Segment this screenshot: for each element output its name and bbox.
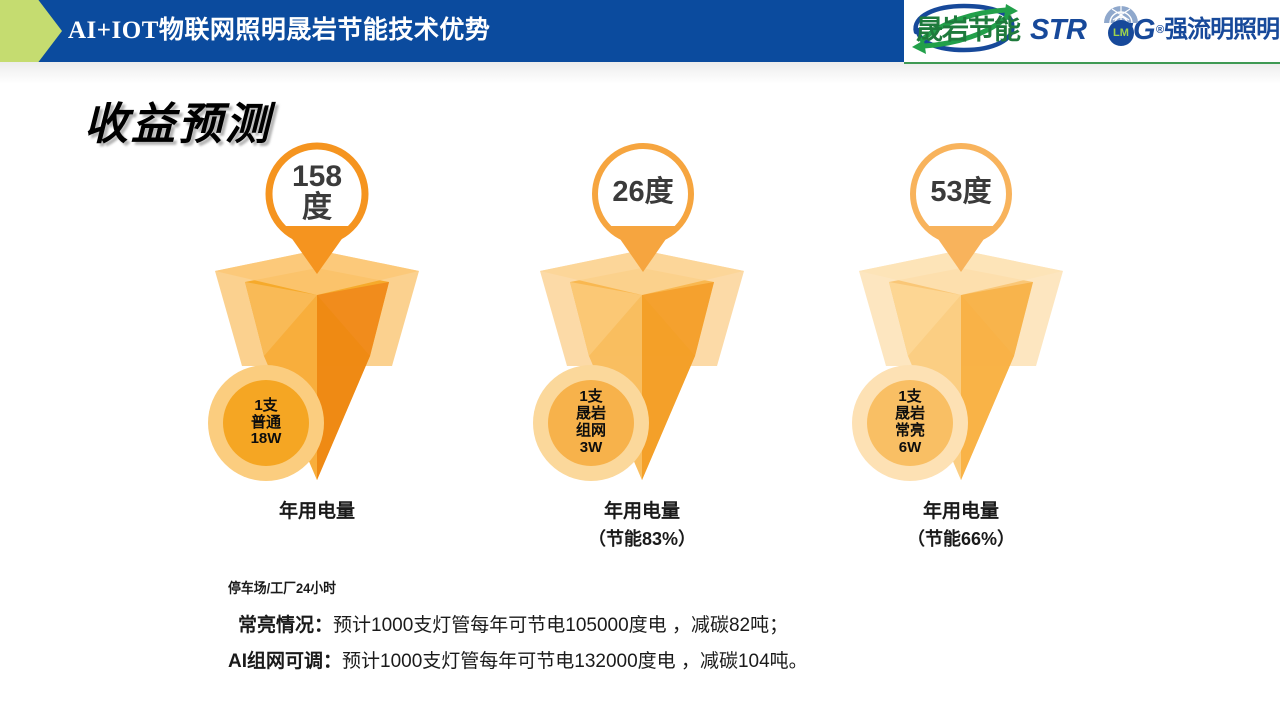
logo-company-name: 晟岩节能 [916, 17, 1020, 44]
lamp-badge-core: 1支 晟岩 组网 3W [548, 380, 634, 466]
caption-sub: （节能66%） [831, 526, 1091, 552]
pin-value-always-on: 53度 [903, 140, 1019, 244]
note-text: 预计1000支灯管每年可节电132000度电 ，减碳104吨。 [342, 651, 808, 672]
pin-value-standard: 158 度 [259, 140, 375, 244]
note-line-mesh: AI组网可调：预计1000支灯管每年可节电132000度电 ，减碳104吨。 [228, 644, 1088, 680]
lamp-badge-line: 1支 [898, 389, 921, 406]
value-pin-mesh: 26度 [585, 140, 701, 278]
logo-brand-strong: STR LM NG ® [1030, 16, 1164, 45]
note-label: 常亮情况： [238, 615, 333, 636]
caption-sub: （节能83%） [512, 526, 772, 552]
pin-value-unit: 度 [302, 192, 332, 223]
header-shadow-band [0, 62, 1280, 84]
pin-value-number: 26度 [612, 177, 673, 207]
lamp-badge-always-on: 1支 晟岩 常亮 6W [852, 365, 968, 481]
lamp-badge-core: 1支 普通 18W [223, 380, 309, 466]
funnel-group-standard: 158 度 1支 普通 18W 年用电量 [187, 140, 447, 490]
lamp-badge-line: 3W [580, 440, 603, 457]
lamp-badge-line: 普通 [251, 415, 281, 432]
lamp-badge-line: 1支 [579, 389, 602, 406]
value-pin-standard: 158 度 [259, 140, 375, 278]
note-scenario: 停车场/工厂24小时 [228, 578, 1019, 599]
funnel-caption-mesh: 年用电量 （节能83%） [512, 498, 772, 552]
pin-value-mesh: 26度 [585, 140, 701, 244]
page-title: AI+IOT物联网照明晟岩节能技术优势 [68, 12, 490, 50]
logo-tagline: 强流明照明 [1164, 18, 1279, 42]
lamp-badge-line: 18W [251, 431, 282, 448]
funnel-group-always-on: 53度 1支 晟岩 常亮 6W 年用电量 （节能66%） [831, 140, 1091, 490]
funnel-mesh-graphic: 26度 1支 晟岩 组网 3W [512, 140, 772, 490]
pin-value-number: 53度 [930, 177, 991, 207]
funnel-always-on-graphic: 53度 1支 晟岩 常亮 6W [831, 140, 1091, 490]
caption-main: 年用电量 [604, 501, 680, 522]
lamp-badge-line: 组网 [576, 423, 606, 440]
brand-logo-panel: 晟岩节能 STR LM NG ® 强流明照明 [904, 0, 1280, 64]
registered-trademark-icon: ® [1156, 24, 1164, 36]
lamp-badge-line: 常亮 [895, 423, 925, 440]
lamp-badge-standard: 1支 普通 18W [208, 365, 324, 481]
lamp-badge-line: 晟岩 [895, 406, 925, 423]
lamp-badge-line: 晟岩 [576, 406, 606, 423]
lamp-badge-core: 1支 晟岩 常亮 6W [867, 380, 953, 466]
notes-block: 停车场/工厂24小时 常亮情况：预计1000支灯管每年可节电105000度电 ，… [228, 578, 1088, 680]
page-header: AI+IOT物联网照明晟岩节能技术优势 晟岩节能 [0, 0, 1280, 62]
funnel-caption-standard: 年用电量 [187, 498, 447, 526]
note-line-always-on: 常亮情况：预计1000支灯管每年可节电105000度电 ，减碳82吨； [228, 608, 1088, 644]
funnel-group-mesh: 26度 1支 晟岩 组网 3W 年用电量 （节能83%） [512, 140, 772, 490]
note-label: AI组网可调： [228, 651, 342, 672]
lamp-badge-line: 6W [899, 440, 922, 457]
funnel-standard-graphic: 158 度 1支 普通 18W [187, 140, 447, 490]
lamp-badge-line: 1支 [254, 398, 277, 415]
value-pin-always-on: 53度 [903, 140, 1019, 278]
logo-lm-badge: LM [1108, 20, 1134, 46]
funnel-caption-always-on: 年用电量 （节能66%） [831, 498, 1091, 552]
lamp-badge-mesh: 1支 晟岩 组网 3W [533, 365, 649, 481]
note-text: 预计1000支灯管每年可节电105000度电 ，减碳82吨； [333, 615, 788, 636]
pin-value-number: 158 [292, 161, 342, 192]
caption-main: 年用电量 [923, 501, 999, 522]
logo-brand-text-prefix: STR [1030, 16, 1087, 45]
caption-main: 年用电量 [279, 501, 355, 522]
